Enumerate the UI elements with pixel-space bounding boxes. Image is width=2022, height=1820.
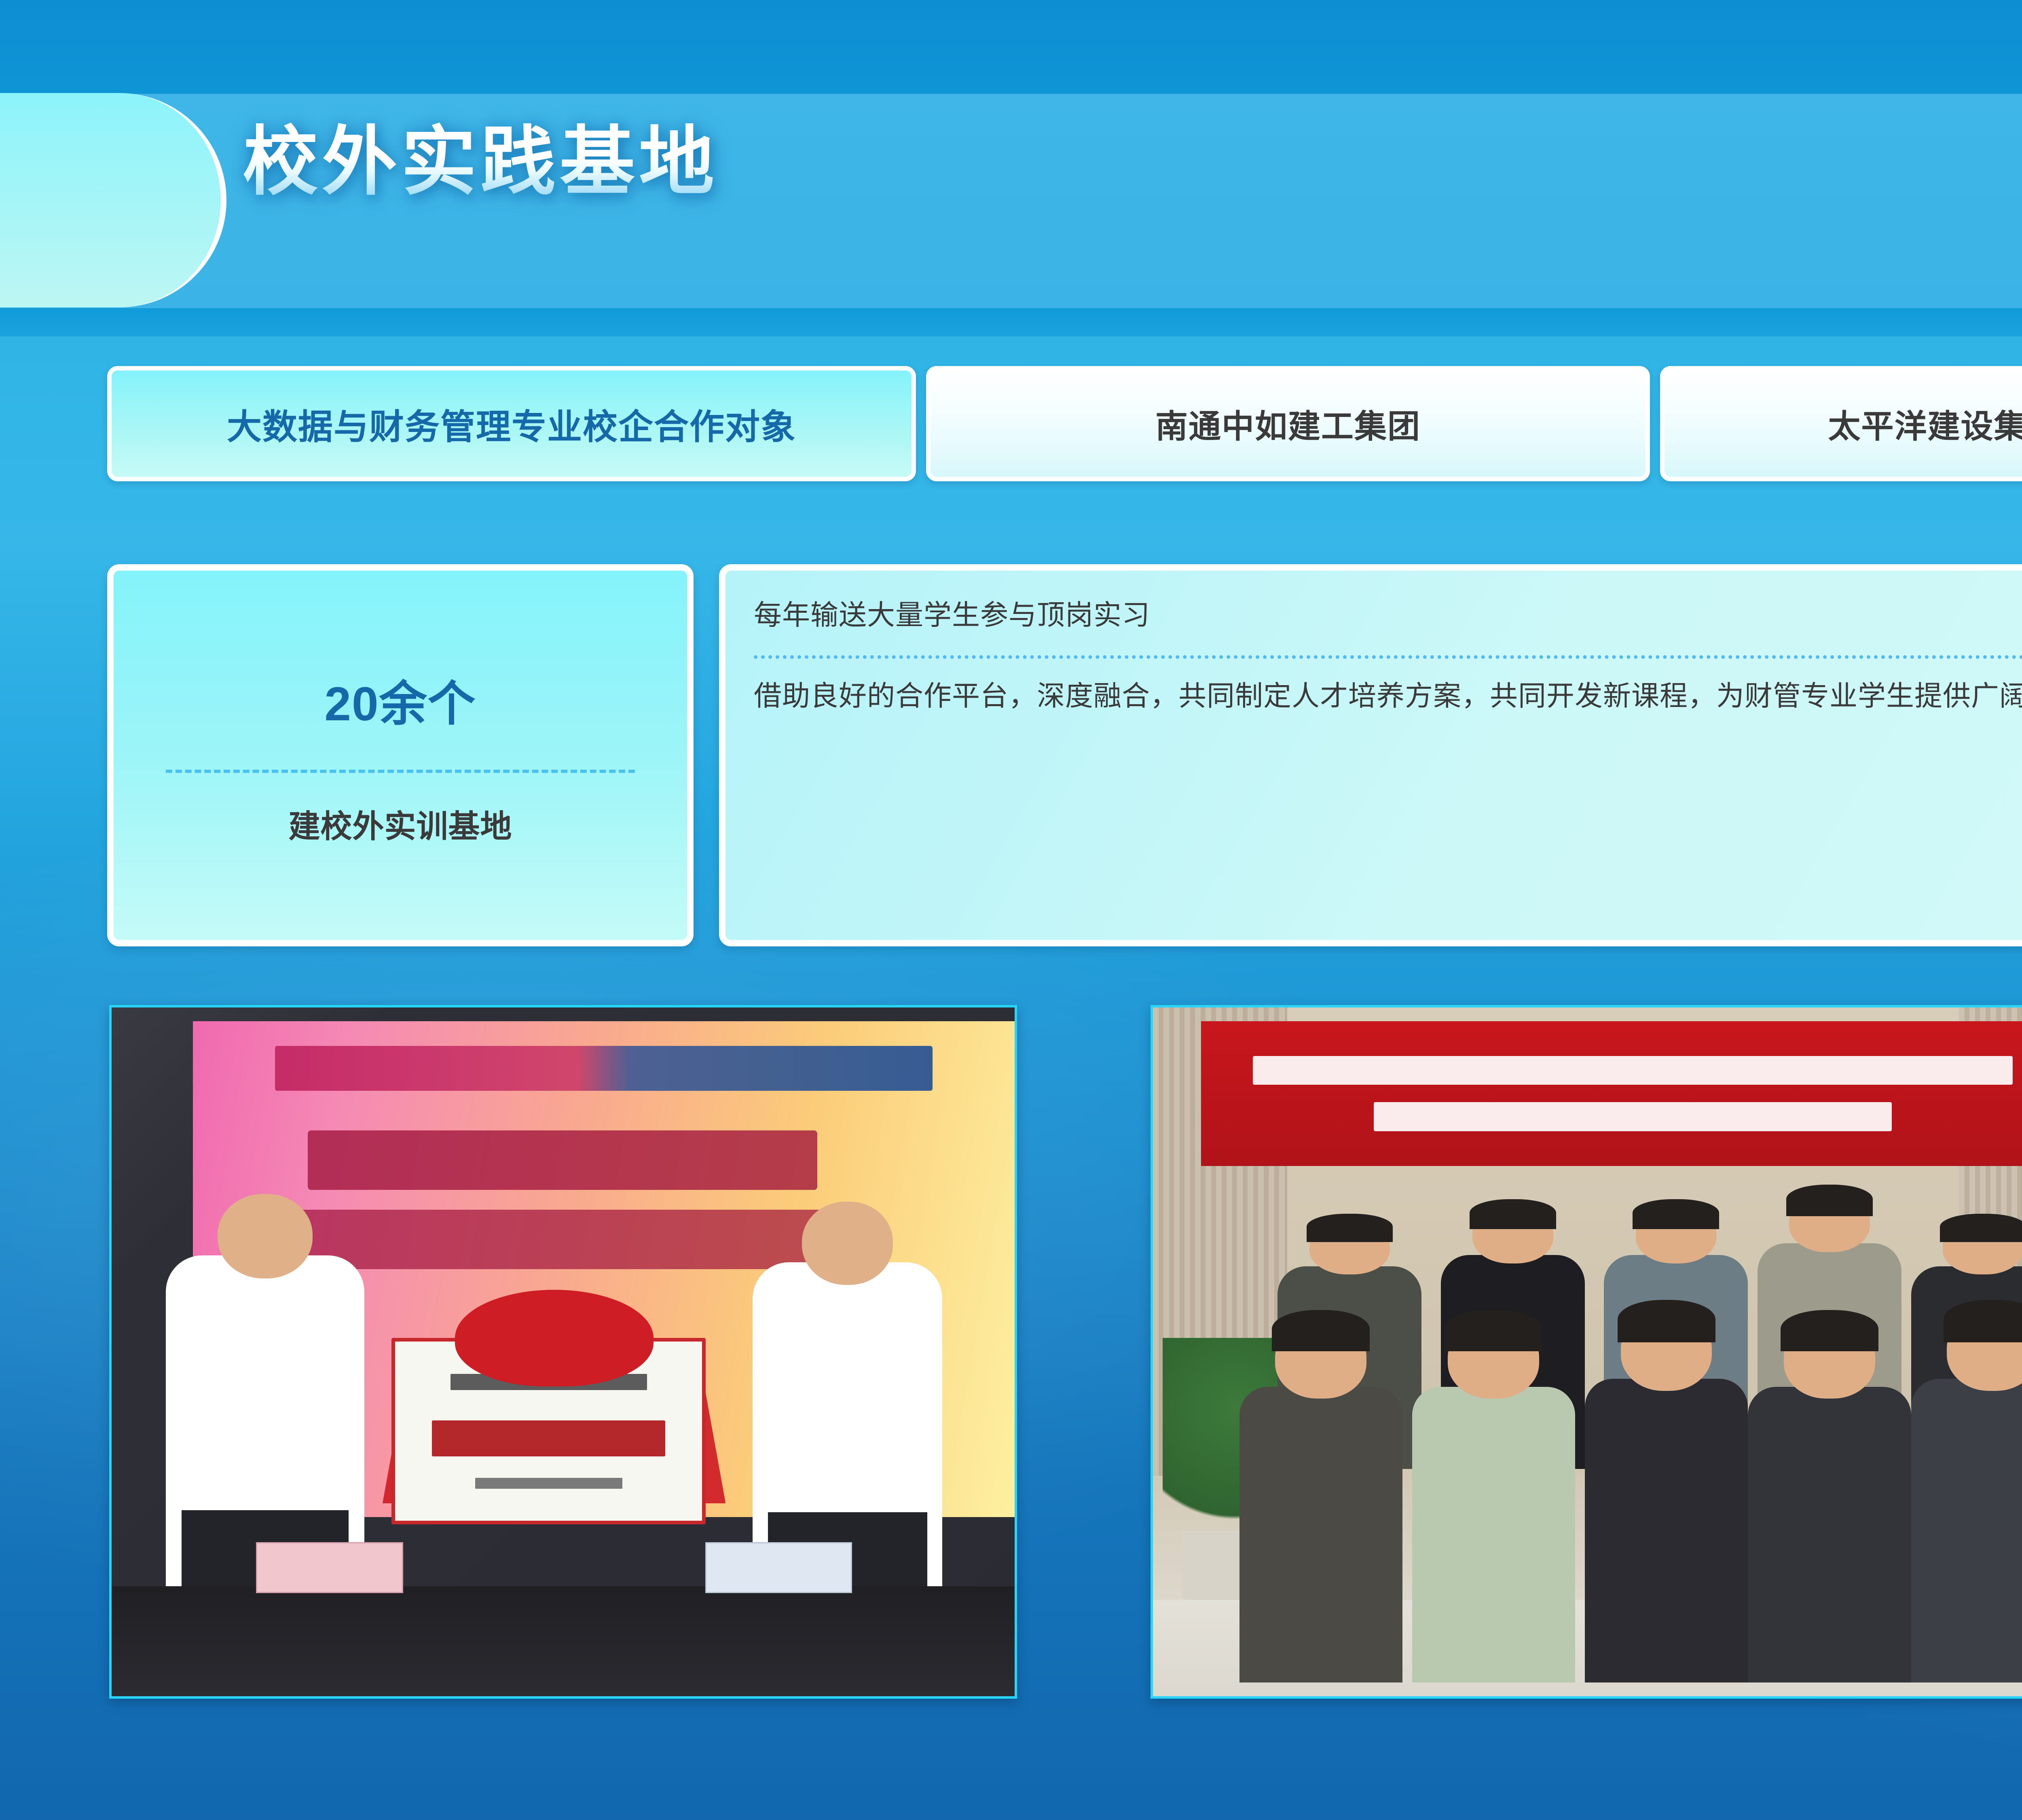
tab-label: 太平洋建设集团 <box>1828 400 2022 447</box>
stat-card: 20余个 建校外实训基地 <box>107 564 694 946</box>
tab-nantong-zhongru[interactable]: 南通中如建工集团 <box>926 366 1650 481</box>
top-strip <box>0 0 2022 94</box>
page-title: 校外实践基地 <box>243 100 718 210</box>
title-band-underline <box>0 308 2022 336</box>
tab-partner-category[interactable]: 大数据与财务管理专业校企合作对象 <box>107 366 916 481</box>
partner-tab-row: 大数据与财务管理专业校企合作对象 南通中如建工集团 太平洋建设集团 中煤五公司等 <box>107 366 2022 481</box>
stat-label: 建校外实训基地 <box>288 801 512 847</box>
slide-root: 校外实践基地 大数据与财务管理专业校企合作对象 南通中如建工集团 太平洋建设集团… <box>0 0 2022 1820</box>
content-paragraph-2: 借助良好的合作平台，深度融合，共同制定人才培养方案，共同开发新课程，为财管专业学… <box>754 675 2022 717</box>
title-accent-shape <box>0 93 226 307</box>
content-divider <box>754 655 2022 659</box>
tab-pacific-construction[interactable]: 太平洋建设集团 <box>1660 366 2022 481</box>
content-paragraph-1: 每年输送大量学生参与顶岗实习 <box>754 594 2022 637</box>
tab-label: 南通中如建工集团 <box>1155 400 1421 447</box>
photo-zhongru-class-unveiling-ceremony[interactable] <box>109 1005 1017 1699</box>
stat-number: 20余个 <box>324 665 476 734</box>
tab-label: 大数据与财务管理专业校企合作对象 <box>227 398 796 449</box>
stat-divider <box>166 770 635 773</box>
photo-row <box>0 1005 2022 1701</box>
photo-program-advisory-committee-group[interactable] <box>1151 1005 2022 1699</box>
content-card: 每年输送大量学生参与顶岗实习 借助良好的合作平台，深度融合，共同制定人才培养方案… <box>719 564 2022 946</box>
